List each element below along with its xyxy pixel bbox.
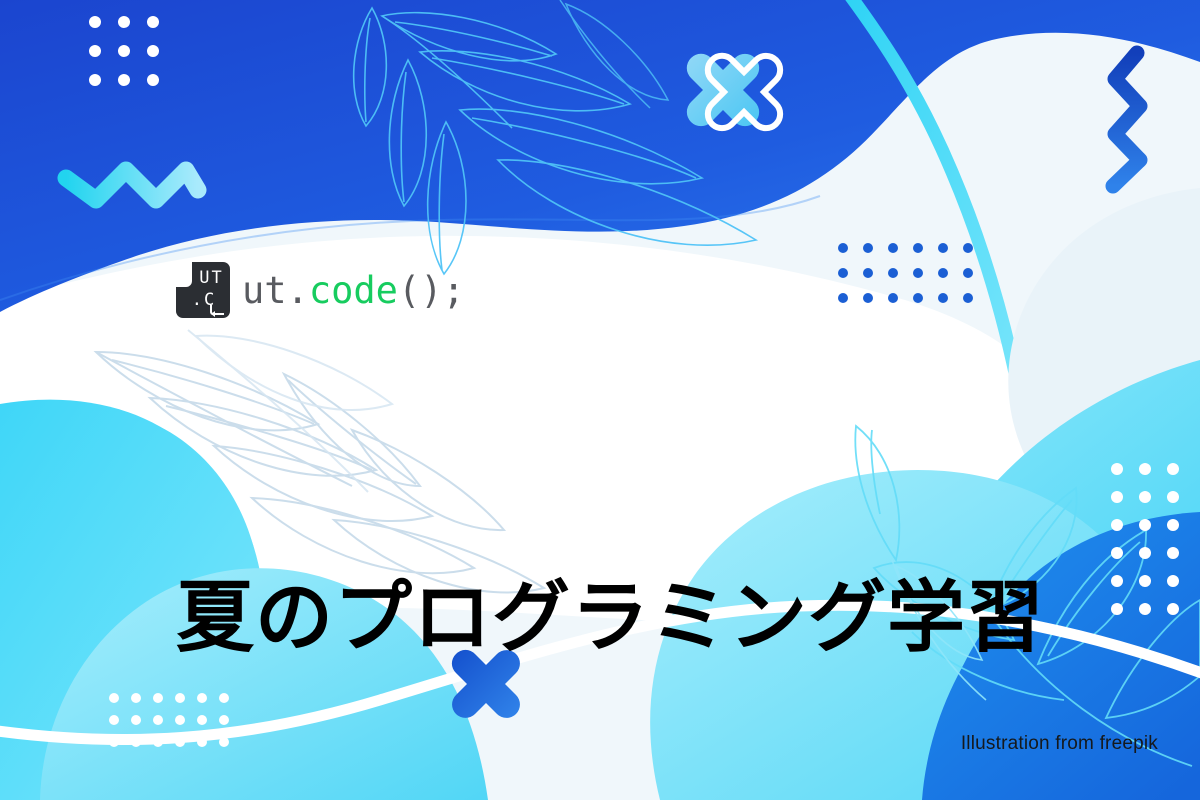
return-arrow-icon — [210, 305, 224, 315]
illustration-credit: Illustration from freepik — [961, 733, 1158, 755]
brand-row: UT .C ut.code(); — [176, 262, 465, 318]
utcode-logo-icon: UT .C — [176, 262, 230, 318]
logo-notch — [175, 261, 192, 287]
wordmark: ut.code(); — [242, 272, 465, 309]
headline-line-1: 夏のプログラミング学習 — [176, 562, 1045, 674]
wordmark-highlight: code — [309, 269, 398, 312]
wordmark-suffix: (); — [398, 269, 465, 312]
poster-canvas: UT .C ut.code(); 夏のプログラミング学習 イベントのお知らせ I… — [0, 0, 1200, 800]
wordmark-prefix: ut. — [242, 269, 309, 312]
page-title: 夏のプログラミング学習 イベントのお知らせ — [176, 338, 1045, 800]
